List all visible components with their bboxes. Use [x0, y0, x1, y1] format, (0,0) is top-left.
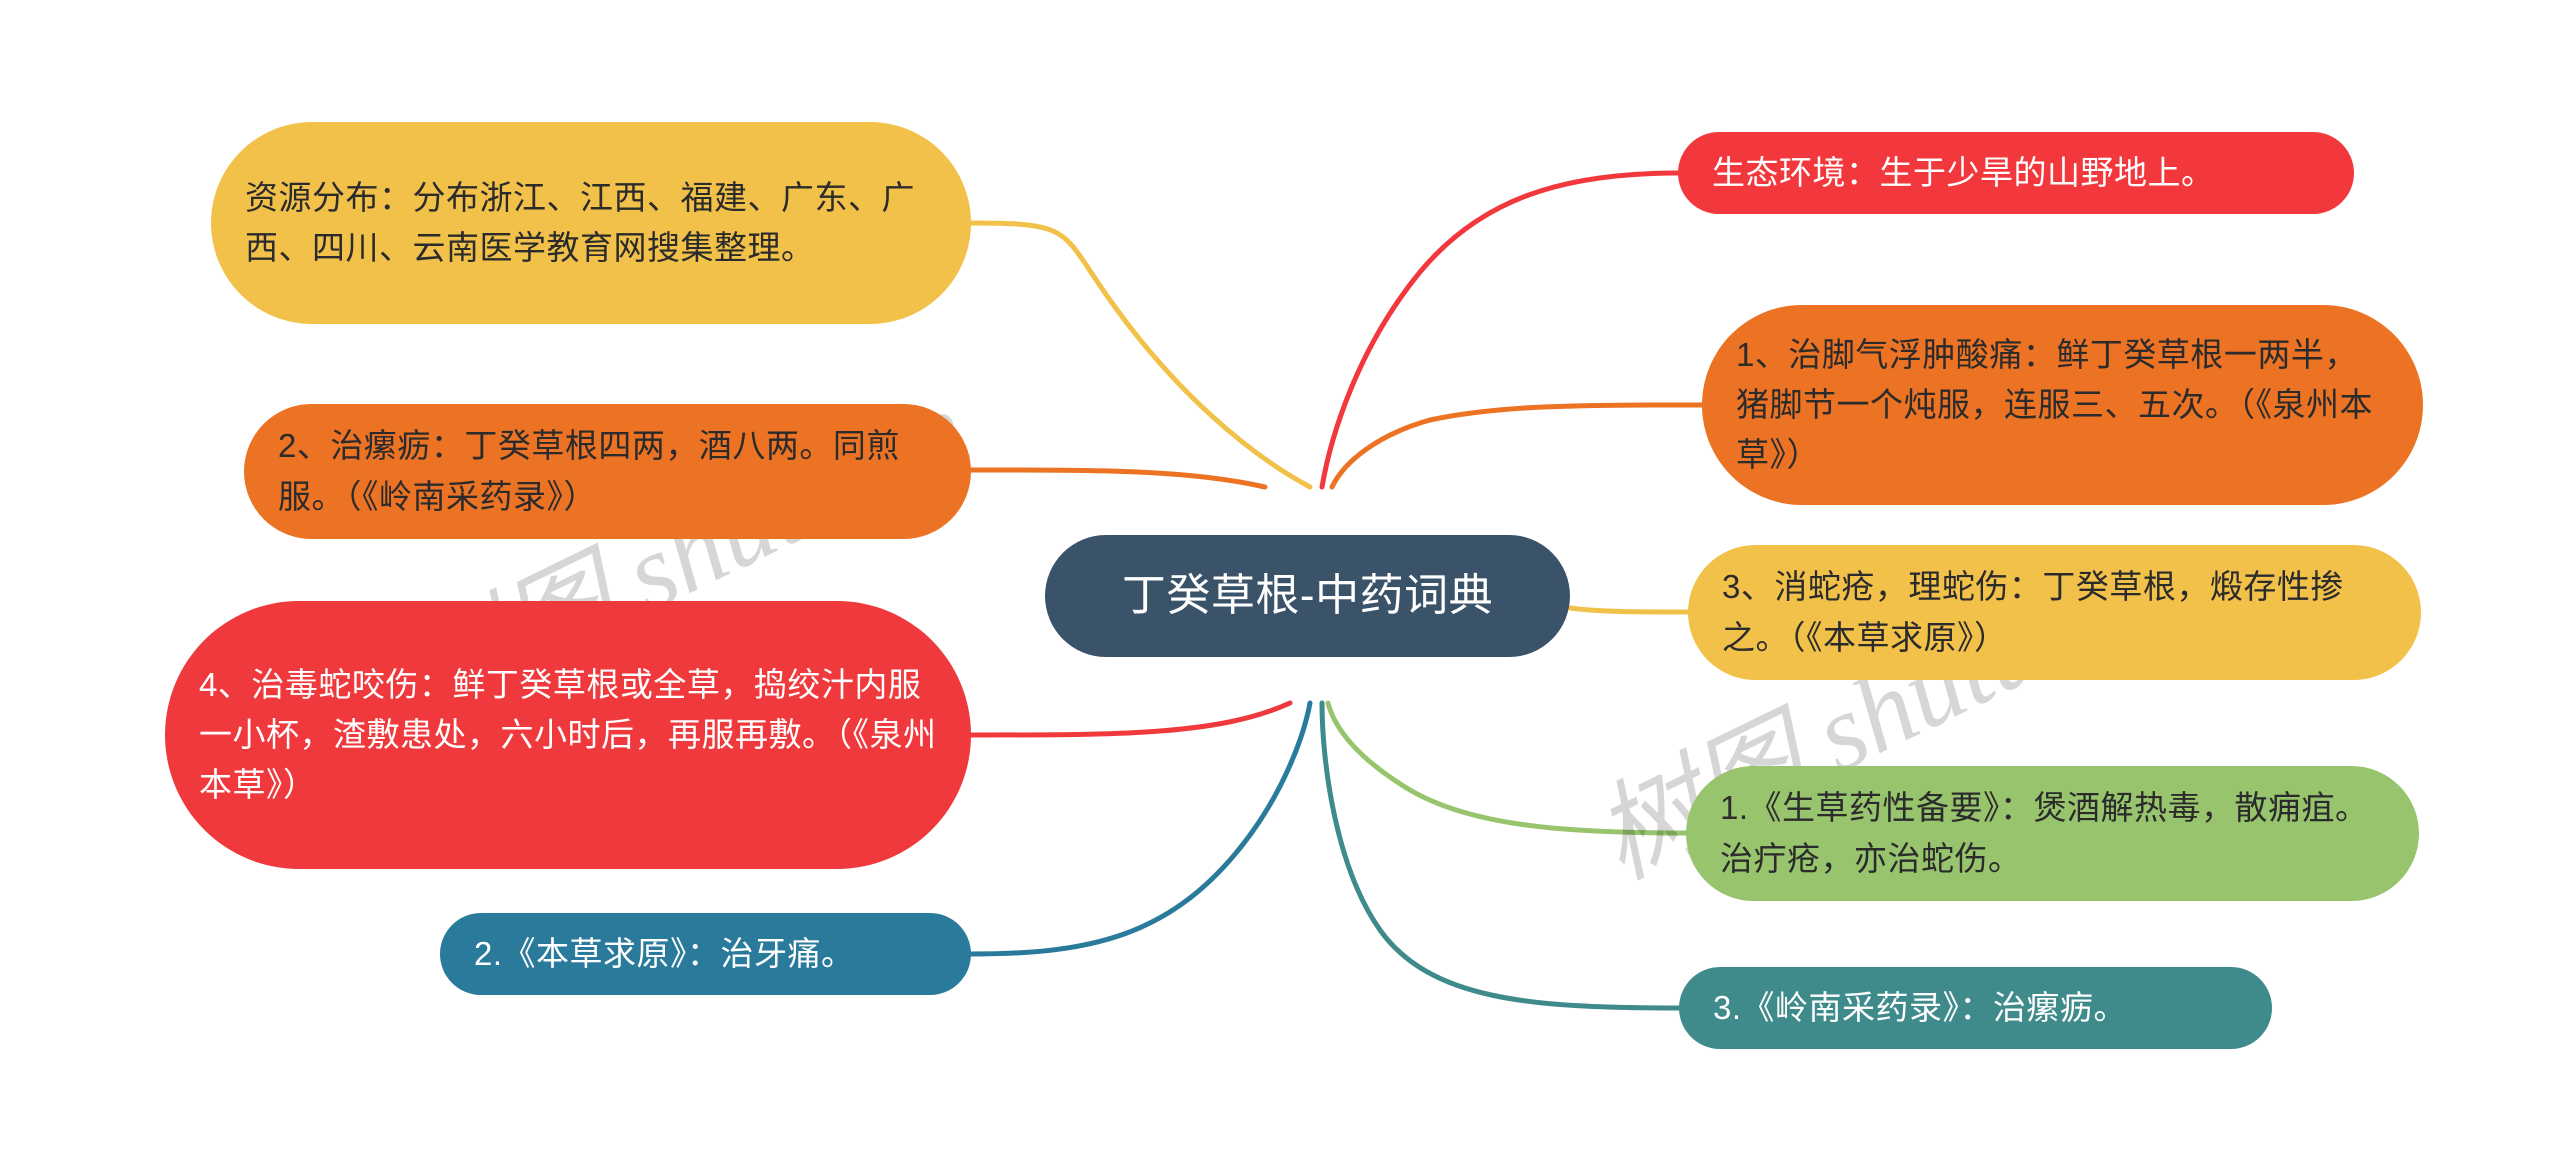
branch-node-shengcaoyao-reference[interactable]: 1.《生草药性备要》：煲酒解热毒，散痈疽。治疔疮，亦治蛇伤。	[1686, 766, 2419, 901]
connector-r4	[1328, 703, 1686, 833]
branch-node-label: 3.《岭南采药录》：治瘰疬。	[1713, 983, 2238, 1033]
center-node[interactable]: 丁癸草根-中药词典	[1045, 535, 1570, 657]
branch-node-label: 4、治毒蛇咬伤：鲜丁癸草根或全草，捣绞汁内服一小杯，渣敷患处，六小时后，再服再敷…	[199, 660, 937, 810]
connector-r3	[1570, 608, 1688, 612]
branch-node-label: 2、治瘰疬：丁癸草根四两，酒八两。同煎服。（《岭南采药录》）	[278, 421, 937, 521]
branch-node-label: 生态环境：生于少旱的山野地上。	[1712, 148, 2320, 198]
branch-node-ecological-environment[interactable]: 生态环境：生于少旱的山野地上。	[1678, 132, 2354, 214]
branch-node-beriberi-remedy[interactable]: 1、治脚气浮肿酸痛：鲜丁癸草根一两半，猪脚节一个炖服，连服三、五次。（《泉州本草…	[1702, 305, 2423, 505]
branch-node-label: 1、治脚气浮肿酸痛：鲜丁癸草根一两半，猪脚节一个炖服，连服三、五次。（《泉州本草…	[1736, 330, 2389, 480]
center-node-label: 丁癸草根-中药词典	[1075, 563, 1540, 630]
connector-r1	[1322, 173, 1678, 487]
connector-l4	[971, 703, 1310, 954]
branch-node-snakebite-remedy[interactable]: 4、治毒蛇咬伤：鲜丁癸草根或全草，捣绞汁内服一小杯，渣敷患处，六小时后，再服再敷…	[165, 601, 971, 869]
mindmap-canvas: 树图 shutu.cn 树图 shutu.cn 资源分布：分布浙江、江西、福建、…	[0, 0, 2560, 1170]
branch-node-toothache-reference[interactable]: 2.《本草求原》：治牙痛。	[440, 913, 971, 995]
connector-l2	[971, 470, 1265, 487]
branch-node-snake-sore-remedy[interactable]: 3、消蛇疮，理蛇伤：丁癸草根，煅存性掺之。（《本草求原》）	[1688, 545, 2421, 680]
branch-node-label: 3、消蛇疮，理蛇伤：丁癸草根，煅存性掺之。（《本草求原》）	[1722, 562, 2387, 662]
branch-node-label: 1.《生草药性备要》：煲酒解热毒，散痈疽。治疔疮，亦治蛇伤。	[1720, 783, 2385, 883]
connector-l1	[971, 223, 1310, 487]
connector-l3	[971, 703, 1290, 735]
connector-r5	[1322, 703, 1679, 1008]
branch-node-scrofula-remedy[interactable]: 2、治瘰疬：丁癸草根四两，酒八两。同煎服。（《岭南采药录》）	[244, 404, 971, 539]
branch-node-lingnan-reference[interactable]: 3.《岭南采药录》：治瘰疬。	[1679, 967, 2272, 1049]
connector-r2	[1332, 405, 1702, 487]
branch-node-resource-distribution[interactable]: 资源分布：分布浙江、江西、福建、广东、广西、四川、云南医学教育网搜集整理。	[211, 122, 971, 324]
branch-node-label: 2.《本草求原》：治牙痛。	[474, 929, 937, 979]
branch-node-label: 资源分布：分布浙江、江西、福建、广东、广西、四川、云南医学教育网搜集整理。	[245, 173, 937, 273]
